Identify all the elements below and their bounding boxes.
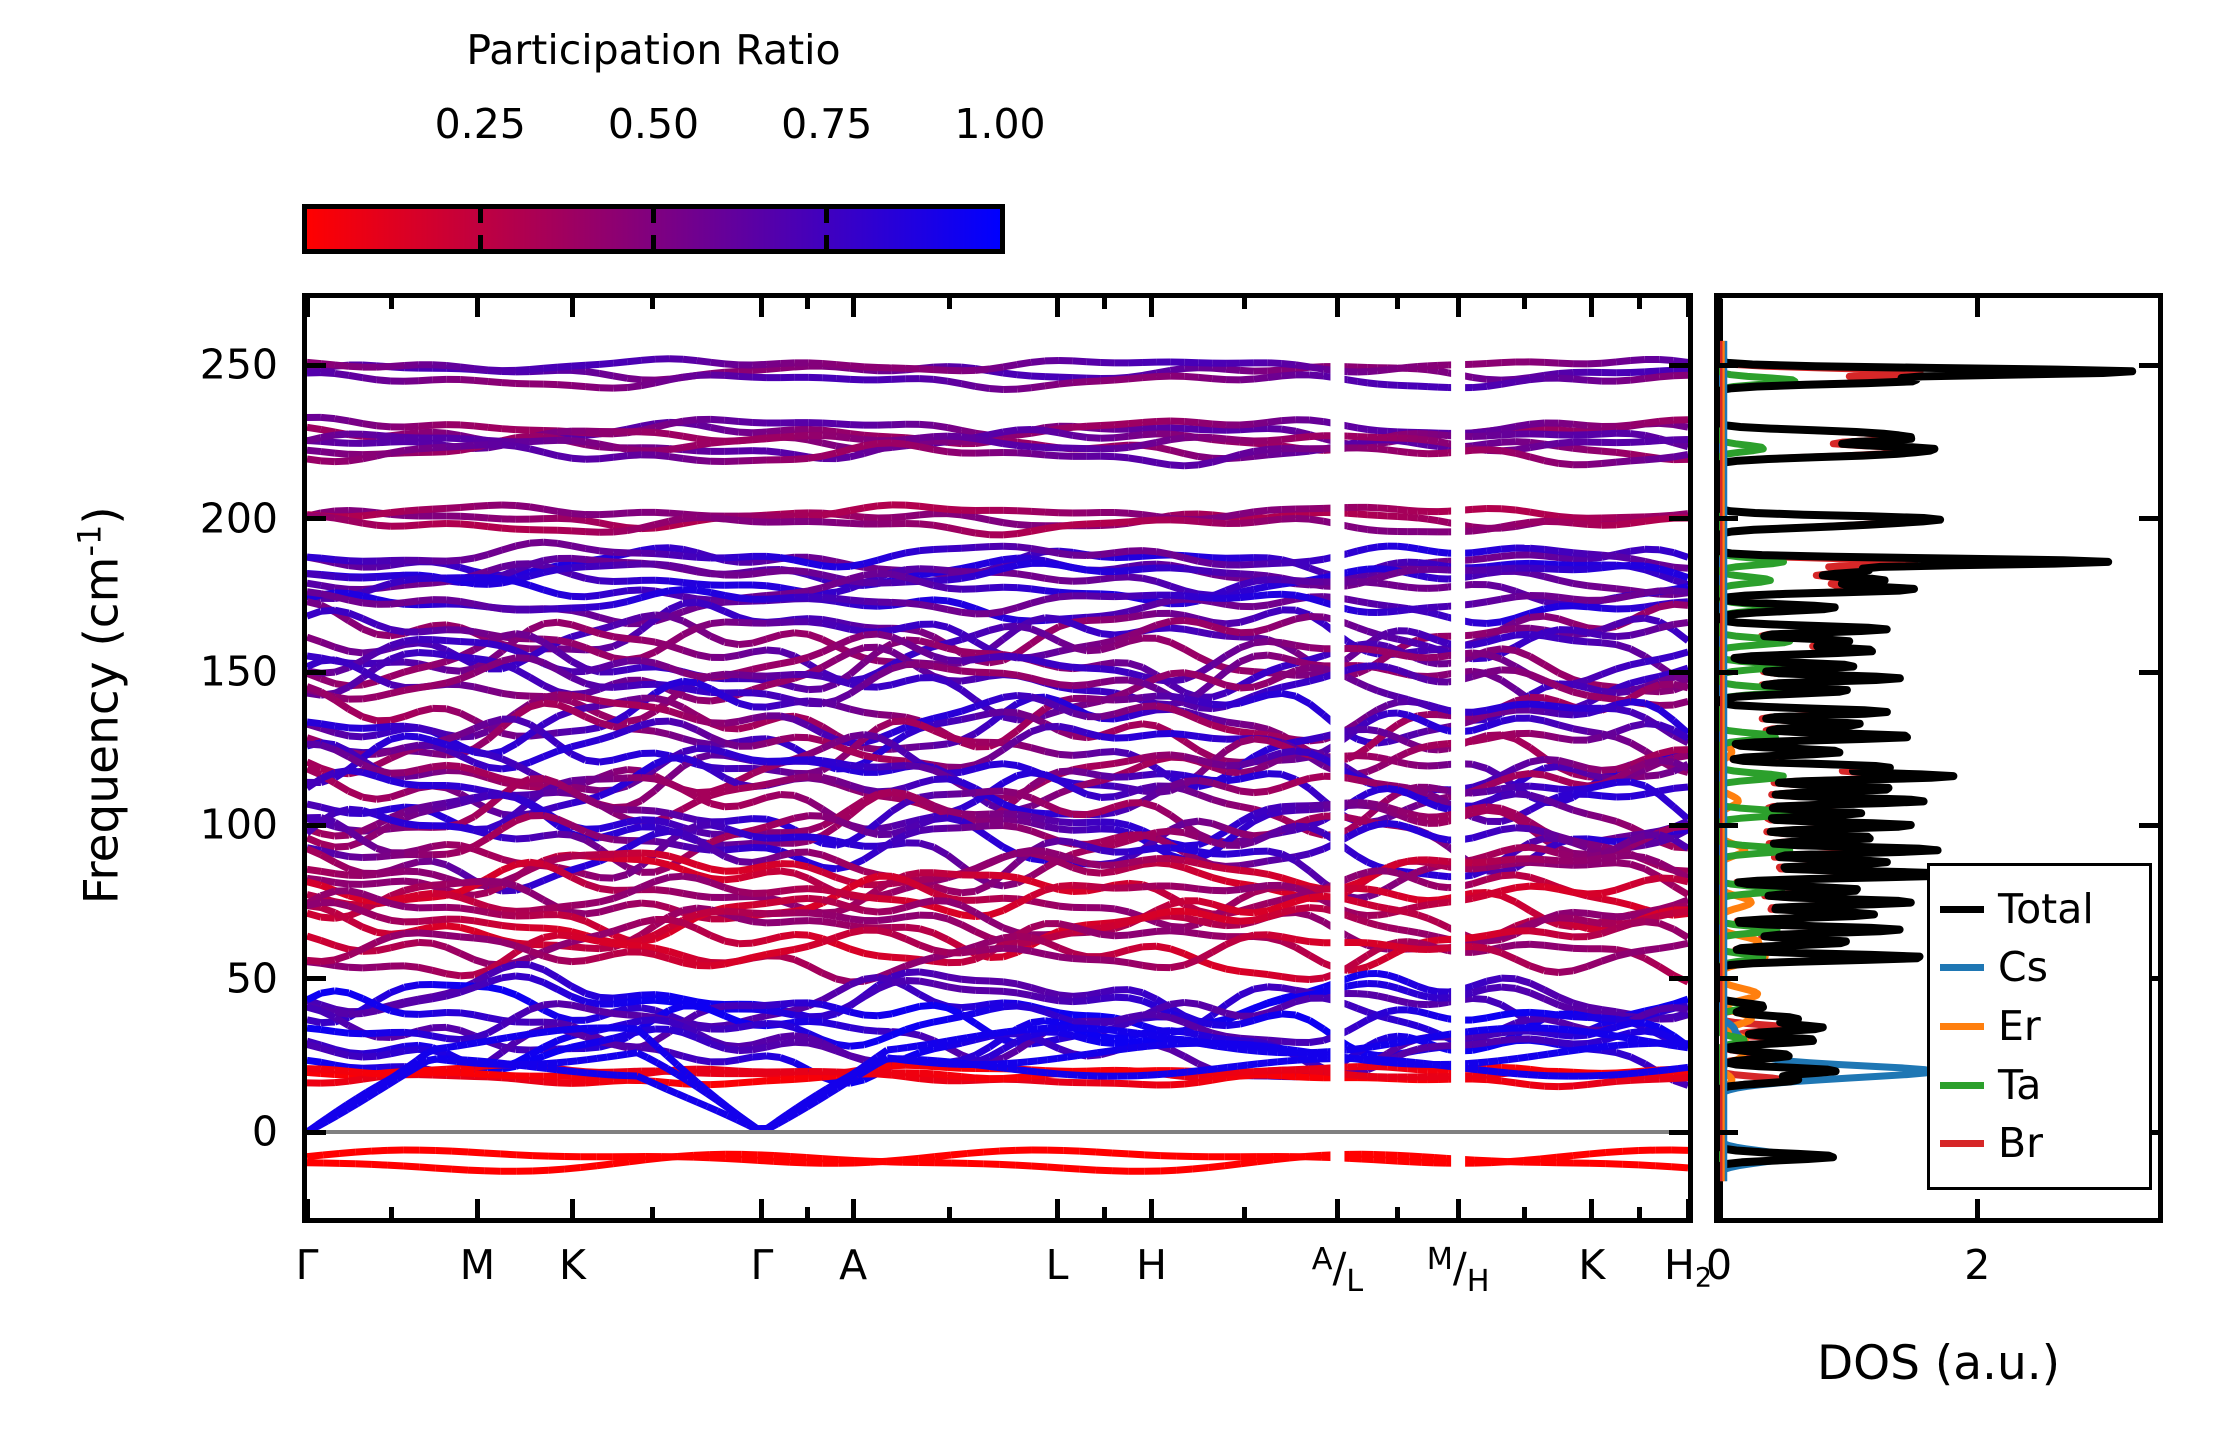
kpoint-minor-tick bbox=[947, 1207, 952, 1218]
band-plot-area bbox=[307, 298, 1688, 1218]
colorbar-tick-label: 0.50 bbox=[608, 100, 699, 148]
frequency-tick bbox=[307, 670, 326, 675]
kpoint-tick bbox=[1149, 1199, 1154, 1218]
kpoint-minor-tick bbox=[389, 1207, 394, 1218]
legend-item-er: Er bbox=[1940, 1000, 2149, 1052]
frequency-tick-label: 100 bbox=[200, 805, 278, 846]
kpoint-minor-tick bbox=[1102, 298, 1107, 309]
frequency-tick-label: 200 bbox=[200, 498, 278, 539]
kpoint-label: A/L bbox=[1312, 1245, 1363, 1297]
legend-swatch bbox=[1940, 906, 1984, 913]
dos-frequency-tick bbox=[2139, 516, 2158, 521]
legend-item-br: Br bbox=[1940, 1118, 2149, 1170]
kpoint-label: Γ bbox=[296, 1245, 319, 1286]
kpoint-tick bbox=[851, 298, 856, 317]
kpoint-minor-tick bbox=[805, 298, 810, 309]
colorbar-tick-label: 0.75 bbox=[781, 100, 872, 148]
phonon-band-axes bbox=[302, 293, 1693, 1223]
legend-item-cs: Cs bbox=[1940, 942, 2149, 994]
dos-tick bbox=[1717, 298, 1722, 317]
y-axis-title-exponent: -1 bbox=[71, 525, 109, 557]
legend-label: Er bbox=[1998, 1006, 2041, 1047]
colorbar-tick bbox=[824, 209, 829, 223]
dos-tick bbox=[1717, 1199, 1722, 1218]
kpoint-minor-tick bbox=[805, 1207, 810, 1218]
colorbar-title: Participation Ratio bbox=[302, 30, 1005, 71]
dos-frequency-tick bbox=[1719, 670, 1738, 675]
kpoint-minor-tick bbox=[947, 298, 952, 309]
dos-frequency-tick bbox=[2139, 670, 2158, 675]
kpoint-label: K bbox=[559, 1245, 586, 1286]
dos-frequency-tick bbox=[2139, 363, 2158, 368]
colorbar-tick-label: 0.25 bbox=[435, 100, 526, 148]
legend-swatch bbox=[1940, 1140, 1984, 1147]
kpoint-tick bbox=[475, 1199, 480, 1218]
dos-tick bbox=[1975, 1199, 1980, 1218]
kpoint-minor-tick bbox=[1242, 298, 1247, 309]
kpoint-tick bbox=[1335, 298, 1340, 317]
frequency-tick-label: 0 bbox=[252, 1112, 278, 1153]
frequency-tick bbox=[1669, 516, 1688, 521]
kpoint-tick bbox=[759, 1199, 764, 1218]
kpoint-label: L bbox=[1046, 1245, 1069, 1286]
colorbar-tick bbox=[651, 235, 656, 249]
colorbar-tick bbox=[824, 235, 829, 249]
kpoint-tick bbox=[570, 1199, 575, 1218]
legend-item-total: Total bbox=[1940, 883, 2149, 935]
participation-ratio-colorbar bbox=[302, 204, 1005, 254]
kpoint-minor-tick bbox=[1522, 1207, 1527, 1218]
kpoint-tick bbox=[1589, 298, 1594, 317]
dos-axis-title: DOS (a.u.) bbox=[1714, 1340, 2163, 1387]
kpoint-tick bbox=[1456, 298, 1461, 317]
frequency-tick bbox=[1669, 670, 1688, 675]
kpoint-tick bbox=[1055, 298, 1060, 317]
phonon-figure: Participation Ratio 0.250.500.751.00 050… bbox=[0, 0, 2222, 1455]
kpoint-tick bbox=[1456, 1199, 1461, 1218]
zero-frequency-line bbox=[307, 1130, 1688, 1134]
colorbar-tick bbox=[478, 209, 483, 223]
frequency-tick bbox=[1669, 1130, 1688, 1135]
legend-label: Total bbox=[1998, 889, 2094, 930]
frequency-tick bbox=[307, 363, 326, 368]
legend-swatch bbox=[1940, 1023, 1984, 1030]
kpoint-tick bbox=[475, 298, 480, 317]
kpoint-tick bbox=[1686, 298, 1691, 317]
frequency-tick-label: 150 bbox=[200, 652, 278, 693]
legend-swatch bbox=[1940, 1082, 1984, 1089]
y-axis-title-close: ) bbox=[74, 506, 129, 524]
kpoint-label: Γ bbox=[750, 1245, 773, 1286]
frequency-tick-label: 50 bbox=[226, 958, 278, 999]
kpoint-label: M/H bbox=[1427, 1245, 1490, 1297]
kpoint-minor-tick bbox=[1395, 298, 1400, 309]
kpoint-minor-tick bbox=[1395, 1207, 1400, 1218]
kpoint-tick bbox=[1149, 298, 1154, 317]
colorbar-tick bbox=[478, 235, 483, 249]
kpoint-minor-tick bbox=[1522, 298, 1527, 309]
colorbar-tick bbox=[651, 209, 656, 223]
legend-item-ta: Ta bbox=[1940, 1059, 2149, 1111]
kpoint-minor-tick bbox=[650, 298, 655, 309]
frequency-tick-label: 250 bbox=[200, 345, 278, 386]
frequency-tick bbox=[307, 516, 326, 521]
kpoint-minor-tick bbox=[1637, 1207, 1642, 1218]
kpoint-tick bbox=[759, 298, 764, 317]
legend-label: Br bbox=[1998, 1123, 2043, 1164]
frequency-tick bbox=[1669, 976, 1688, 981]
colorbar-tick-label: 1.00 bbox=[954, 100, 1045, 148]
y-axis-title: Frequency (cm-1) bbox=[75, 355, 126, 1055]
dos-frequency-tick bbox=[1719, 823, 1738, 828]
dos-tick bbox=[1975, 298, 1980, 317]
kpoint-minor-tick bbox=[1242, 1207, 1247, 1218]
kpoint-minor-tick bbox=[1102, 1207, 1107, 1218]
dos-frequency-tick bbox=[1719, 516, 1738, 521]
frequency-tick bbox=[1669, 363, 1688, 368]
kpoint-minor-tick bbox=[650, 1207, 655, 1218]
kpoint-tick bbox=[305, 1199, 310, 1218]
band-curves bbox=[307, 298, 1688, 1218]
kpoint-tick bbox=[1589, 1199, 1594, 1218]
kpoint-tick bbox=[1335, 1199, 1340, 1218]
kpoint-tick bbox=[305, 298, 310, 317]
legend-swatch bbox=[1940, 964, 1984, 971]
dos-tick-label: 0 bbox=[1706, 1245, 1732, 1286]
dos-frequency-tick bbox=[1719, 976, 1738, 981]
kpoint-tick bbox=[1686, 1199, 1691, 1218]
legend-label: Cs bbox=[1998, 947, 2048, 988]
frequency-tick bbox=[1669, 823, 1688, 828]
kpoint-label: M bbox=[460, 1245, 495, 1286]
dos-legend: TotalCsErTaBr bbox=[1927, 863, 2152, 1190]
kpoint-minor-tick bbox=[389, 298, 394, 309]
kpoint-tick bbox=[851, 1199, 856, 1218]
dos-tick-label: 2 bbox=[1964, 1245, 1990, 1286]
dos-frequency-tick bbox=[1719, 363, 1738, 368]
frequency-tick bbox=[307, 1130, 326, 1135]
frequency-tick bbox=[307, 823, 326, 828]
frequency-tick bbox=[307, 976, 326, 981]
kpoint-minor-tick bbox=[1637, 298, 1642, 309]
dos-frequency-tick bbox=[2139, 823, 2158, 828]
kpoint-label: H bbox=[1136, 1245, 1167, 1286]
kpoint-label: A bbox=[839, 1245, 867, 1286]
kpoint-tick bbox=[1055, 1199, 1060, 1218]
legend-label: Ta bbox=[1998, 1065, 2041, 1106]
dos-frequency-tick bbox=[1719, 1130, 1738, 1135]
y-axis-title-text: Frequency (cm bbox=[74, 557, 129, 905]
kpoint-tick bbox=[570, 298, 575, 317]
kpoint-label: H2 bbox=[1664, 1245, 1712, 1292]
kpoint-label: K bbox=[1578, 1245, 1605, 1286]
